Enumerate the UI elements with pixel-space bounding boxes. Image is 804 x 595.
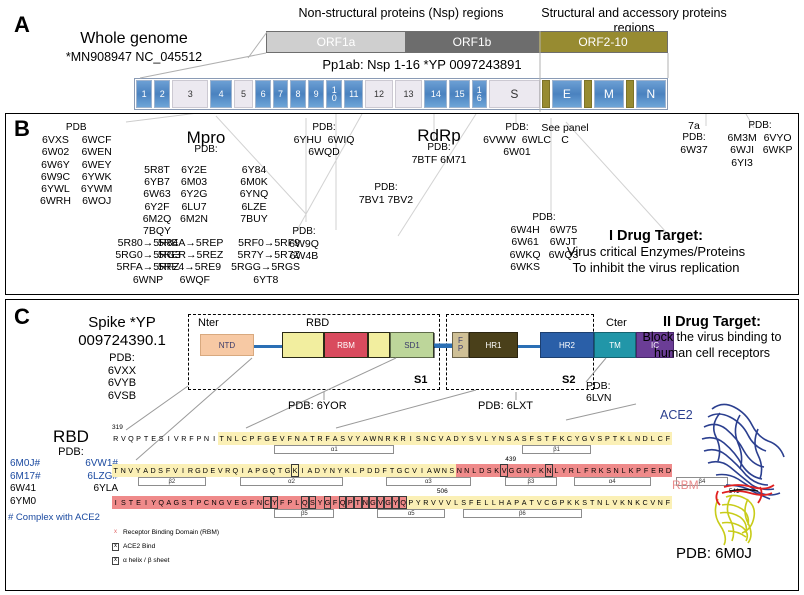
pdb-code[interactable]: 6WJI [728, 144, 757, 156]
drug-target-2-line1: Block the virus binding to [620, 330, 804, 346]
residue: Y [415, 496, 423, 509]
residue: Y [336, 464, 343, 477]
residue: A [246, 464, 253, 477]
residue: S [485, 464, 492, 477]
nsp-block-10[interactable]: 10 [326, 80, 342, 108]
residue: I [210, 432, 218, 445]
residue: P [635, 464, 642, 477]
residue: E [233, 496, 241, 509]
pdb-range[interactable]: 5RGG→5RGS [231, 261, 300, 273]
nsp-block-5[interactable]: 5 [234, 80, 253, 108]
residue: E [135, 496, 143, 509]
orf-1b[interactable]: ORF1b [406, 31, 538, 53]
pdb-code[interactable]: 6YWK [81, 171, 113, 183]
sd2-fp-connector [434, 345, 452, 348]
sequence-residues: TNVYADSFVIRGDEVRQIAPGQTGKIADYNYKLPDDFTGC… [112, 464, 672, 477]
residue: G [581, 432, 589, 445]
see-panel-line1: See panel [530, 122, 600, 134]
nsp9-group: PDB: 6YHU 6WIQ 6WQD [284, 122, 364, 159]
pdb-6lvn-group: PDB: 6LVN [586, 380, 612, 404]
pdb-6lxt-label[interactable]: PDB: 6LXT [478, 400, 533, 412]
gene-spacer [626, 80, 634, 108]
residue: S [180, 496, 188, 509]
residue: V [536, 496, 544, 509]
nsp-block-label: 5 [241, 89, 246, 99]
residue: K [493, 464, 500, 477]
pdb-code[interactable]: 6WIQ [328, 134, 355, 146]
residue: T [112, 464, 119, 477]
residue: K [392, 432, 400, 445]
residue: S [120, 496, 128, 509]
pdb-code[interactable]: 6WQF [180, 274, 210, 286]
residue: K [291, 464, 298, 477]
nsp-block-11[interactable]: 11 [344, 80, 363, 108]
nsp-block-12[interactable]: 12 [365, 80, 392, 108]
residue: T [354, 496, 362, 509]
residue: S [467, 432, 475, 445]
pdb-code[interactable]: 6Y84 [228, 164, 280, 176]
residue: A [520, 496, 528, 509]
pdb-code[interactable]: 6YT8 [253, 274, 278, 286]
residue: L [471, 464, 478, 477]
pdb-code[interactable]: 6WEN [81, 146, 113, 158]
residue: F [530, 464, 537, 477]
residue: L [553, 464, 560, 477]
residue: A [362, 432, 370, 445]
residue: F [528, 432, 536, 445]
panel-a-letter: A [14, 12, 30, 38]
residue: Q [127, 432, 135, 445]
legend-swatch: x [112, 557, 119, 565]
nsp10-pdb-label: PDB: [274, 226, 334, 238]
rbd-code-row: 6YM0 [8, 496, 120, 509]
residue: S [581, 496, 589, 509]
residue: T [388, 464, 395, 477]
pdb-code[interactable]: 6YNQ [228, 188, 280, 200]
rbd-code-row: 6W41 6YLA [8, 483, 120, 496]
mpro-col-1: 6Y2E 6M03 6Y2G 6LU7 6M2N [168, 164, 220, 225]
pdb-code[interactable]: 6Y2E [168, 164, 220, 176]
residue: V [437, 432, 445, 445]
residue: F [324, 432, 332, 445]
residue: C [566, 432, 574, 445]
pdb-range[interactable]: 5RE4→5RE9 [158, 261, 221, 273]
nsp-block-e[interactable]: E [552, 80, 582, 108]
pdb-code[interactable]: 6VXS [40, 134, 71, 146]
nter-label: Nter [198, 317, 219, 329]
nsp-block-6[interactable]: 6 [255, 80, 271, 108]
residue: N [203, 432, 211, 445]
residue: N [362, 496, 370, 509]
domain-rbd-left-pad[interactable] [282, 332, 324, 358]
pdb-code[interactable]: 6VYO [763, 132, 793, 144]
pdb-code[interactable]: 6M3M [728, 132, 757, 144]
drug-target-1: I Drug Target: Virus critical Enzymes/Pr… [522, 228, 790, 276]
residue-number: 439 [505, 456, 516, 463]
residue: Y [316, 496, 324, 509]
residue: V [217, 464, 224, 477]
nsp-block-14[interactable]: 14 [424, 80, 447, 108]
residue: Y [560, 464, 567, 477]
pdb-code[interactable]: 6WEY [81, 159, 113, 171]
domain-hr2[interactable]: HR2 [540, 332, 594, 358]
nsp-block-m[interactable]: M [594, 80, 624, 108]
residue: I [179, 464, 186, 477]
drug-target-2: II Drug Target: Block the virus binding … [620, 314, 804, 361]
residue: F [278, 496, 286, 509]
residue: E [271, 432, 279, 445]
residue: P [135, 432, 143, 445]
residue-number: 319 [112, 424, 123, 431]
residue: K [558, 432, 566, 445]
nsp-block-label: 1 [142, 89, 147, 99]
residue: R [224, 464, 231, 477]
residue: F [467, 496, 475, 509]
residue: Y [321, 464, 328, 477]
residue: G [263, 432, 271, 445]
residue: Q [269, 464, 276, 477]
residue: I [142, 496, 150, 509]
nsp-block-4[interactable]: 4 [210, 80, 232, 108]
pdb-code[interactable]: 6VSB [42, 390, 202, 403]
pdb-code[interactable]: 6LZE [228, 201, 280, 213]
residue: N [456, 464, 463, 477]
residue: N [463, 464, 470, 477]
panel-b-letter: B [14, 116, 30, 142]
residue: L [483, 432, 491, 445]
residue: Y [354, 432, 362, 445]
nsp-block-s[interactable]: S [489, 80, 541, 108]
mpro-title: Mpro [158, 132, 254, 144]
residue: A [301, 432, 309, 445]
pdb-code[interactable]: 6VWW [483, 134, 516, 146]
residue: H [498, 496, 506, 509]
residue: Q [232, 464, 239, 477]
pdb-code[interactable]: 6WOJ [81, 195, 113, 207]
residue: A [513, 432, 521, 445]
drug-target-1-line1: Virus critical Enzymes/Proteins [522, 244, 790, 260]
residue: F [286, 432, 294, 445]
residue: E [475, 496, 483, 509]
residue: S [309, 496, 317, 509]
nsp-block-label: N [646, 87, 655, 101]
residue: L [294, 496, 302, 509]
secondary-structure-box: α3 [386, 477, 472, 486]
residue: E [150, 432, 158, 445]
nsp-block-label: M [604, 87, 614, 101]
pdb-code[interactable]: 7BUY [228, 213, 280, 225]
sequence-alignment: RVQPTESIVRFPNITNLCPFGEVFNATRFASVYAWNRKRI… [112, 432, 672, 528]
residue: V [611, 496, 619, 509]
legend-label: ACE2 Bind [123, 541, 155, 552]
residue-number: 506 [437, 488, 448, 495]
whole-genome-title: Whole genome [34, 30, 234, 48]
pdb-code[interactable]: 6VYB [42, 377, 202, 390]
residue: V [173, 432, 181, 445]
drug-target-2-num: II [663, 314, 671, 330]
domain-hr1[interactable]: HR1 [469, 332, 518, 358]
pdb-range[interactable]: 5REA→5REP [158, 237, 223, 249]
domain-ntd[interactable]: NTD [200, 334, 254, 356]
nsp-block-13[interactable]: 13 [395, 80, 422, 108]
pdb-6yor-label[interactable]: PDB: 6YOR [288, 400, 347, 412]
pdb-code[interactable]: 6YM0 [10, 496, 36, 509]
nsp-block-label: 11 [349, 89, 358, 99]
residue: T [127, 496, 135, 509]
pdb-code[interactable]: 6W37 [666, 144, 722, 156]
residue: T [543, 432, 551, 445]
residue: A [306, 464, 313, 477]
residue: N [498, 432, 506, 445]
residue: D [149, 464, 156, 477]
residue: N [225, 432, 233, 445]
residue: Q [399, 496, 407, 509]
rbd-code-row: 6M17# 6LZG# [8, 471, 120, 484]
nsp-block-16[interactable]: 16 [472, 80, 487, 108]
residue: W [433, 464, 440, 477]
n-protein-group: PDB: 6M3M 6WJI 6YI3 6VYO 6WKP [720, 120, 800, 169]
residue: V [445, 496, 453, 509]
nsp-block-8[interactable]: 8 [290, 80, 306, 108]
nsp-block-1[interactable]: 1 [136, 80, 152, 108]
residue: F [256, 432, 264, 445]
nsp-block-7[interactable]: 7 [273, 80, 288, 108]
pdb-code[interactable]: 6LU7 [168, 201, 220, 213]
residue: G [241, 496, 249, 509]
pdb-code[interactable]: 6LVN [586, 392, 612, 404]
mpro-col-2: 6Y84 6M0K 6YNQ 6LZE 7BUY [228, 164, 280, 225]
residue: I [407, 432, 415, 445]
pdb-code[interactable]: 6W01 [472, 146, 562, 158]
nsp3-pdb-group: PDB 6VXS 6W02 6W6Y 6W9C 6YWL 6WRH 6WCF 6… [40, 122, 112, 207]
residue: F [164, 464, 171, 477]
nsp3-col-1: 6VXS 6W02 6W6Y 6W9C 6YWL 6WRH [40, 134, 71, 207]
secondary-structure-box: β2 [138, 477, 206, 486]
residue: V [346, 432, 354, 445]
domain-rbm[interactable]: RBM [324, 332, 368, 358]
residue: N [596, 496, 604, 509]
nsp-block-9[interactable]: 9 [308, 80, 324, 108]
residue: V [475, 432, 483, 445]
legend-swatch: x [112, 543, 119, 551]
residue: C [403, 464, 410, 477]
residue: W [369, 432, 377, 445]
residue: N [523, 464, 530, 477]
secondary-structure-box: β6 [463, 509, 583, 518]
residue: I [299, 464, 306, 477]
residue: L [626, 432, 634, 445]
secondary-structure-box: β1 [522, 445, 590, 454]
pdb-code[interactable]: 6M0K [228, 176, 280, 188]
residue: F [551, 432, 559, 445]
orf-1a[interactable]: ORF1a [266, 31, 406, 53]
residue: V [649, 496, 657, 509]
residue: R [422, 496, 430, 509]
residue: V [437, 496, 445, 509]
nsp3-col-2: 6WCF 6WEN 6WEY 6YWK 6YWM 6WOJ [81, 134, 113, 207]
rbd-title: RBD [16, 427, 126, 447]
residue: G [508, 464, 515, 477]
residue: C [641, 496, 649, 509]
pdb-code[interactable]: 6M0J# [10, 458, 40, 471]
residue: D [373, 464, 380, 477]
residue: V [120, 432, 128, 445]
pdb-code[interactable]: 6WCF [81, 134, 113, 146]
residue: G [261, 464, 268, 477]
residue: Q [339, 496, 347, 509]
residue: R [384, 432, 392, 445]
residue: Q [301, 496, 309, 509]
orf-2-10[interactable]: ORF2-10 [538, 31, 668, 53]
pdb-code[interactable]: 6WKP [763, 144, 793, 156]
nsp-block-3[interactable]: 3 [172, 80, 208, 108]
residue: G [194, 464, 201, 477]
hr1-hr2-connector [518, 345, 540, 348]
pdb-range[interactable]: 5RER→5REZ [158, 249, 223, 261]
pdb-code[interactable]: 6W9C [40, 171, 71, 183]
nsp-block-label: 8 [295, 89, 300, 99]
pdb-code[interactable]: 6WRH [40, 195, 71, 207]
residue: N [626, 496, 634, 509]
residue: T [218, 432, 226, 445]
rbd-pdb-label: PDB: [16, 446, 126, 458]
pdb-code[interactable]: 6M17# [10, 471, 41, 484]
nsp9-pdb-label: PDB: [284, 122, 364, 134]
pdb-code[interactable]: 6W6Y [40, 159, 71, 171]
pdb-code[interactable]: 6W4B [274, 250, 334, 262]
pdb-code[interactable]: 6YHU [294, 134, 322, 146]
residue: S [157, 464, 164, 477]
residue: Y [150, 496, 158, 509]
residue: P [604, 432, 612, 445]
residue: T [588, 496, 596, 509]
spike-pdb-label: PDB: [42, 352, 202, 365]
residue: N [545, 464, 552, 477]
residue: S [605, 464, 612, 477]
rbd-domain-label: RBD [306, 317, 329, 329]
residue: T [611, 432, 619, 445]
residue: G [173, 496, 181, 509]
residue: V [430, 496, 438, 509]
residue: Y [573, 432, 581, 445]
residue: D [314, 464, 321, 477]
nsp-block-15[interactable]: 15 [449, 80, 469, 108]
pdb-code[interactable]: 6YI3 [728, 157, 757, 169]
legend-row: xReceptor Binding Domain (RBM) [112, 527, 219, 538]
pdb-code[interactable]: 6M03 [168, 176, 220, 188]
pdb-code[interactable]: 7BV1 7BV2 [346, 194, 426, 206]
nsp3-code-columns: 6VXS 6W02 6W6Y 6W9C 6YWL 6WRH 6WCF 6WEN … [40, 134, 112, 207]
mpro-pdb-label: PDB: [158, 144, 254, 156]
whole-genome-accession: *MN908947 NC_045512 [20, 50, 248, 64]
nsp-block-label: 4 [219, 89, 224, 99]
residue: I [165, 432, 173, 445]
residue: Y [134, 464, 141, 477]
pdb-code[interactable]: 7BQY [118, 225, 196, 237]
pdb-code[interactable]: 6Y2G [168, 188, 220, 200]
residue: N [119, 464, 126, 477]
residue: V [588, 432, 596, 445]
pdb-code[interactable]: 6W02 [40, 146, 71, 158]
residue: F [381, 464, 388, 477]
spike-title-line2: 009724390.1 [42, 332, 202, 350]
residue: G [551, 496, 559, 509]
pdb-code[interactable]: 6M2N [168, 213, 220, 225]
residue: L [351, 464, 358, 477]
legend-swatch: x [112, 529, 119, 537]
nsp-block-2[interactable]: 2 [154, 80, 170, 108]
rbd-code-row: 6M0J# 6VW1# [8, 458, 120, 471]
residue: E [650, 464, 657, 477]
n-col-1: 6M3M 6WJI 6YI3 [728, 132, 757, 169]
domain-fp[interactable]: FP [452, 332, 469, 358]
secondary-structure-box: α2 [240, 477, 343, 486]
residue: I [112, 496, 120, 509]
nsp-block-n[interactable]: N [636, 80, 666, 108]
residue: L [620, 464, 627, 477]
residue: V [127, 464, 134, 477]
residue: Y [392, 496, 400, 509]
residue: R [112, 432, 120, 445]
secondary-structure-box: α4 [574, 477, 651, 486]
residue: L [575, 464, 582, 477]
residue: R [180, 432, 188, 445]
residue: E [209, 464, 216, 477]
residue: F [331, 496, 339, 509]
pdb-code[interactable]: 6YWM [81, 183, 113, 195]
pdb-code[interactable]: 6WQD [284, 146, 364, 158]
pdb-6lvn-label: PDB: [586, 380, 612, 392]
see-panel-line2: C [530, 134, 600, 146]
secondary-structure-box: α1 [274, 445, 394, 454]
residue: A [142, 464, 149, 477]
residue: S [460, 496, 468, 509]
residue: L [604, 496, 612, 509]
drug-target-2-heading: II Drug Target: [620, 314, 804, 330]
residue: V [278, 432, 286, 445]
residue: N [294, 432, 302, 445]
mpro-group: Mpro PDB: [158, 132, 254, 156]
pdb-code[interactable]: 6VXX [42, 365, 202, 378]
drug-target-1-line2: To inhibit the virus replication [522, 260, 790, 276]
residue: V [225, 496, 233, 509]
nsp-block-label: 15 [455, 89, 465, 99]
n-col-2: 6VYO 6WKP [763, 132, 793, 169]
residue: K [566, 496, 574, 509]
pdb-code[interactable]: 6W9Q [274, 238, 334, 250]
residue: T [188, 496, 196, 509]
residue: I [418, 464, 425, 477]
residue: G [218, 496, 226, 509]
nsp-bar: 12345678910111213141516SEMN [134, 78, 668, 110]
pdb-code[interactable]: 6YWL [40, 183, 71, 195]
panel-b-drug-targets: B PDB 6VXS 6W02 6W6Y 6W9C 6YWL 6WRH 6WCF [5, 113, 799, 295]
legend-row: xACE2 Bind [112, 541, 219, 552]
residue: N [441, 464, 448, 477]
residue: K [344, 464, 351, 477]
residue: G [396, 464, 403, 477]
drug-target-1-heading: I Drug Target: [522, 228, 790, 244]
nsp13-group: PDB: 7BV1 7BV2 [346, 182, 426, 206]
domain-sd1[interactable]: SD1 [390, 332, 434, 358]
domain-rbd-right-pad[interactable] [368, 332, 390, 358]
secondary-structure-box: β5 [274, 509, 334, 518]
pdb-code[interactable]: 6W41 [10, 483, 36, 496]
residue: V [172, 464, 179, 477]
residue: S [415, 432, 423, 445]
nsp-block-label: 12 [374, 89, 384, 99]
sequence-row: TNVYADSFVIRGDEVRQIAPGQTGKIADYNYKLPDDFTGC… [112, 464, 672, 484]
